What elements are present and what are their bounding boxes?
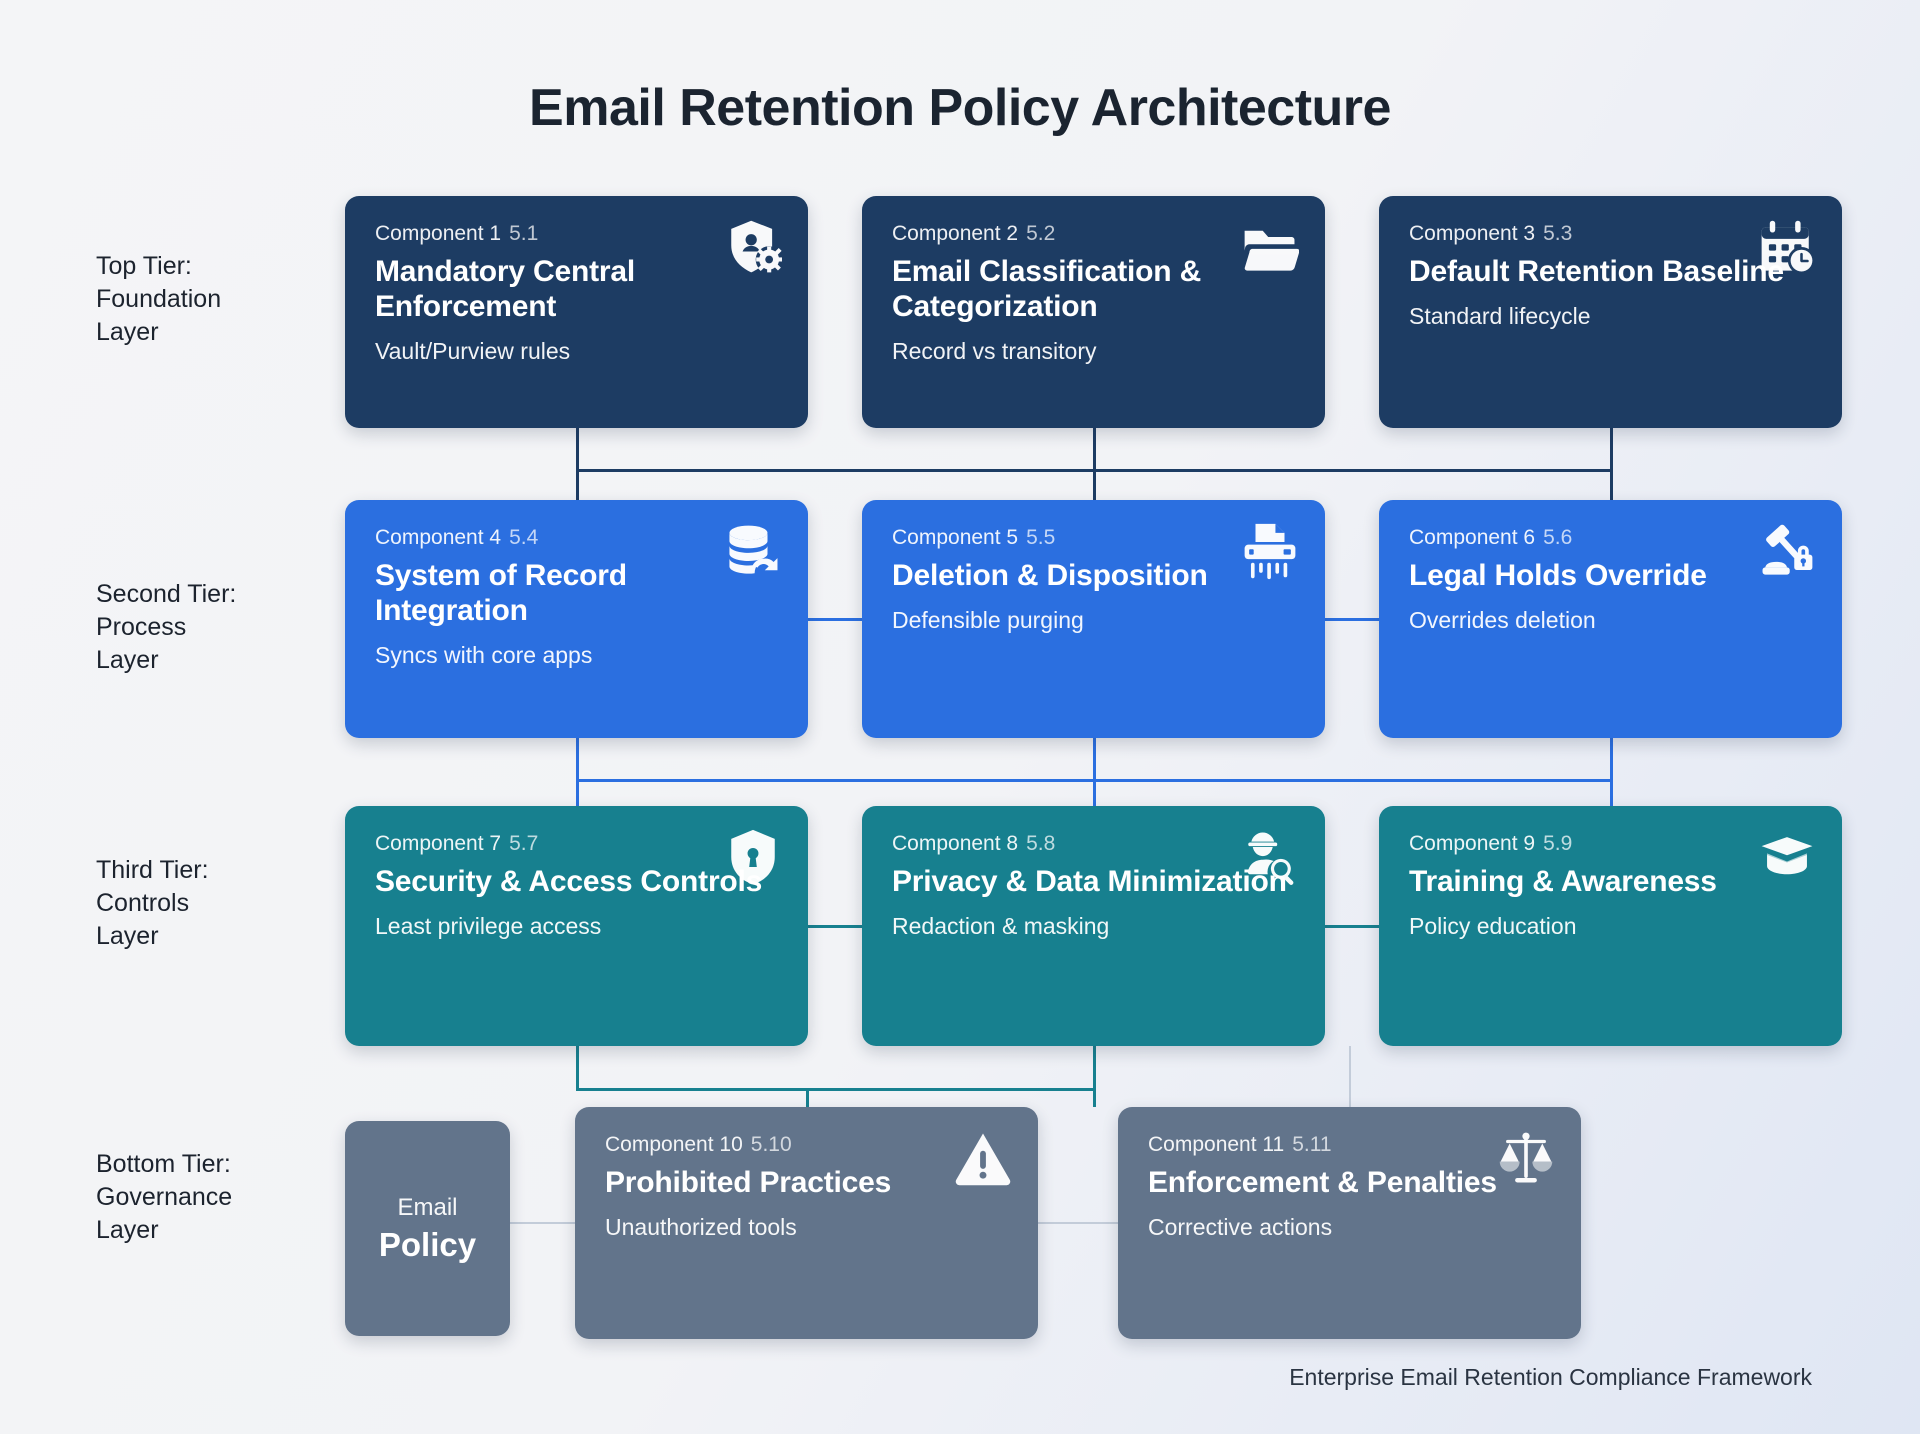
connector-bus-to-c10: [806, 1088, 809, 1107]
open-book-icon: [1758, 828, 1816, 886]
component-desc: Vault/Purview rules: [375, 338, 778, 365]
connector-c3-down: [1610, 428, 1613, 471]
component-title: Legal Holds Override: [1409, 558, 1812, 593]
component-desc: Record vs transitory: [892, 338, 1295, 365]
component-title: Prohibited Practices: [605, 1165, 1008, 1200]
component-desc: Unauthorized tools: [605, 1214, 1008, 1241]
component-meta: Component 85.8: [892, 832, 1295, 856]
component-desc: Policy education: [1409, 913, 1812, 940]
connector-tier2-bus: [576, 779, 1613, 782]
root-label-small: Email: [397, 1194, 457, 1222]
connector-c4-c5: [808, 618, 862, 621]
tier-label-second: Second Tier: Process Layer: [96, 578, 346, 677]
component-title: Default Retention Baseline: [1409, 254, 1812, 289]
connector-tier1-bus: [576, 469, 1613, 472]
connector-c10-to-c11: [1038, 1222, 1118, 1224]
component-card-5[interactable]: Component 55.5 Deletion & Disposition De…: [862, 500, 1325, 738]
connector-bus-to-c6: [1610, 469, 1613, 500]
tier-label-line: Bottom Tier:: [96, 1148, 346, 1181]
component-meta: Component 55.5: [892, 526, 1295, 550]
component-meta: Component 105.10: [605, 1133, 1008, 1157]
component-meta: Component 65.6: [1409, 526, 1812, 550]
component-title: System of Record Integration: [375, 558, 778, 628]
tier-label-line: Process: [96, 611, 346, 644]
component-title: Deletion & Disposition: [892, 558, 1295, 593]
component-meta: Component 45.4: [375, 526, 778, 550]
component-card-2[interactable]: Component 25.2 Email Classification & Ca…: [862, 196, 1325, 428]
tier-label-top: Top Tier: Foundation Layer: [96, 250, 346, 349]
component-desc: Overrides deletion: [1409, 607, 1812, 634]
tier-label-line: Layer: [96, 316, 346, 349]
database-sync-icon: [724, 522, 782, 580]
component-desc: Redaction & masking: [892, 913, 1295, 940]
user-spy-search-icon: [1241, 828, 1299, 886]
component-title: Mandatory Central Enforcement: [375, 254, 778, 324]
tier-label-line: Top Tier:: [96, 250, 346, 283]
component-title: Privacy & Data Minimization: [892, 864, 1295, 899]
component-meta: Component 15.1: [375, 222, 778, 246]
warning-triangle-icon: [954, 1129, 1012, 1187]
component-meta: Component 25.2: [892, 222, 1295, 246]
connector-tier3-bus: [576, 1088, 1096, 1091]
component-card-1[interactable]: Component 15.1 Mandatory Central Enforce…: [345, 196, 808, 428]
component-title: Enforcement & Penalties: [1148, 1165, 1551, 1200]
folder-open-icon: [1241, 218, 1299, 276]
connector-bus-to-c9: [1610, 779, 1613, 806]
gavel-lock-icon: [1758, 522, 1816, 580]
component-meta: Component 75.7: [375, 832, 778, 856]
user-shield-gear-icon: [724, 218, 782, 276]
connector-bus-to-c4: [576, 469, 579, 500]
tier-label-third: Third Tier: Controls Layer: [96, 854, 346, 953]
component-desc: Least privilege access: [375, 913, 778, 940]
connector-c7-down: [576, 1046, 579, 1091]
component-card-8[interactable]: Component 85.8 Privacy & Data Minimizati…: [862, 806, 1325, 1046]
connector-c5-down: [1093, 738, 1096, 806]
tier-label-line: Second Tier:: [96, 578, 346, 611]
shield-lock-icon: [724, 828, 782, 886]
tier-label-line: Layer: [96, 1214, 346, 1247]
component-card-10[interactable]: Component 105.10 Prohibited Practices Un…: [575, 1107, 1038, 1339]
tier-label-bottom: Bottom Tier: Governance Layer: [96, 1148, 346, 1247]
root-policy-card[interactable]: Email Policy: [345, 1121, 510, 1336]
component-card-11[interactable]: Component 115.11 Enforcement & Penalties…: [1118, 1107, 1581, 1339]
component-title: Security & Access Controls: [375, 864, 778, 899]
scales-justice-icon: [1497, 1129, 1555, 1187]
diagram-canvas: Email Retention Policy Architecture: [0, 0, 1920, 1434]
root-label-big: Policy: [379, 1226, 476, 1264]
connector-c6-down: [1610, 738, 1613, 781]
connector-c8-down: [1093, 1046, 1096, 1107]
connector-c1-down: [576, 428, 579, 471]
component-title: Training & Awareness: [1409, 864, 1812, 899]
component-card-9[interactable]: Component 95.9 Training & Awareness Poli…: [1379, 806, 1842, 1046]
component-desc: Corrective actions: [1148, 1214, 1551, 1241]
connector-c7-c8: [808, 925, 862, 928]
component-meta: Component 115.11: [1148, 1133, 1551, 1157]
component-meta: Component 35.3: [1409, 222, 1812, 246]
connector-c5-c6: [1325, 618, 1379, 621]
component-card-4[interactable]: Component 45.4 System of Record Integrat…: [345, 500, 808, 738]
component-desc: Syncs with core apps: [375, 642, 778, 669]
component-card-6[interactable]: Component 65.6 Legal Holds Override Over…: [1379, 500, 1842, 738]
tier-label-line: Foundation: [96, 283, 346, 316]
connector-c9-down-faint: [1349, 1046, 1351, 1107]
connector-c2-down: [1093, 428, 1096, 500]
tier-label-line: Controls: [96, 887, 346, 920]
component-card-7[interactable]: Component 75.7 Security & Access Control…: [345, 806, 808, 1046]
component-desc: Defensible purging: [892, 607, 1295, 634]
footer-caption: Enterprise Email Retention Compliance Fr…: [1289, 1364, 1812, 1391]
shredder-icon: [1241, 522, 1299, 580]
component-desc: Standard lifecycle: [1409, 303, 1812, 330]
component-meta: Component 95.9: [1409, 832, 1812, 856]
connector-c8-c9: [1325, 925, 1379, 928]
connector-root-to-c10: [510, 1222, 575, 1224]
connector-c4-down: [576, 738, 579, 781]
tier-label-line: Third Tier:: [96, 854, 346, 887]
tier-label-line: Layer: [96, 920, 346, 953]
tier-label-line: Layer: [96, 644, 346, 677]
tier-label-line: Governance: [96, 1181, 346, 1214]
connector-bus-to-c7: [576, 779, 579, 806]
calendar-clock-icon: [1758, 218, 1816, 276]
component-card-3[interactable]: Component 35.3 Default Retention Baselin…: [1379, 196, 1842, 428]
component-title: Email Classification & Categorization: [892, 254, 1295, 324]
